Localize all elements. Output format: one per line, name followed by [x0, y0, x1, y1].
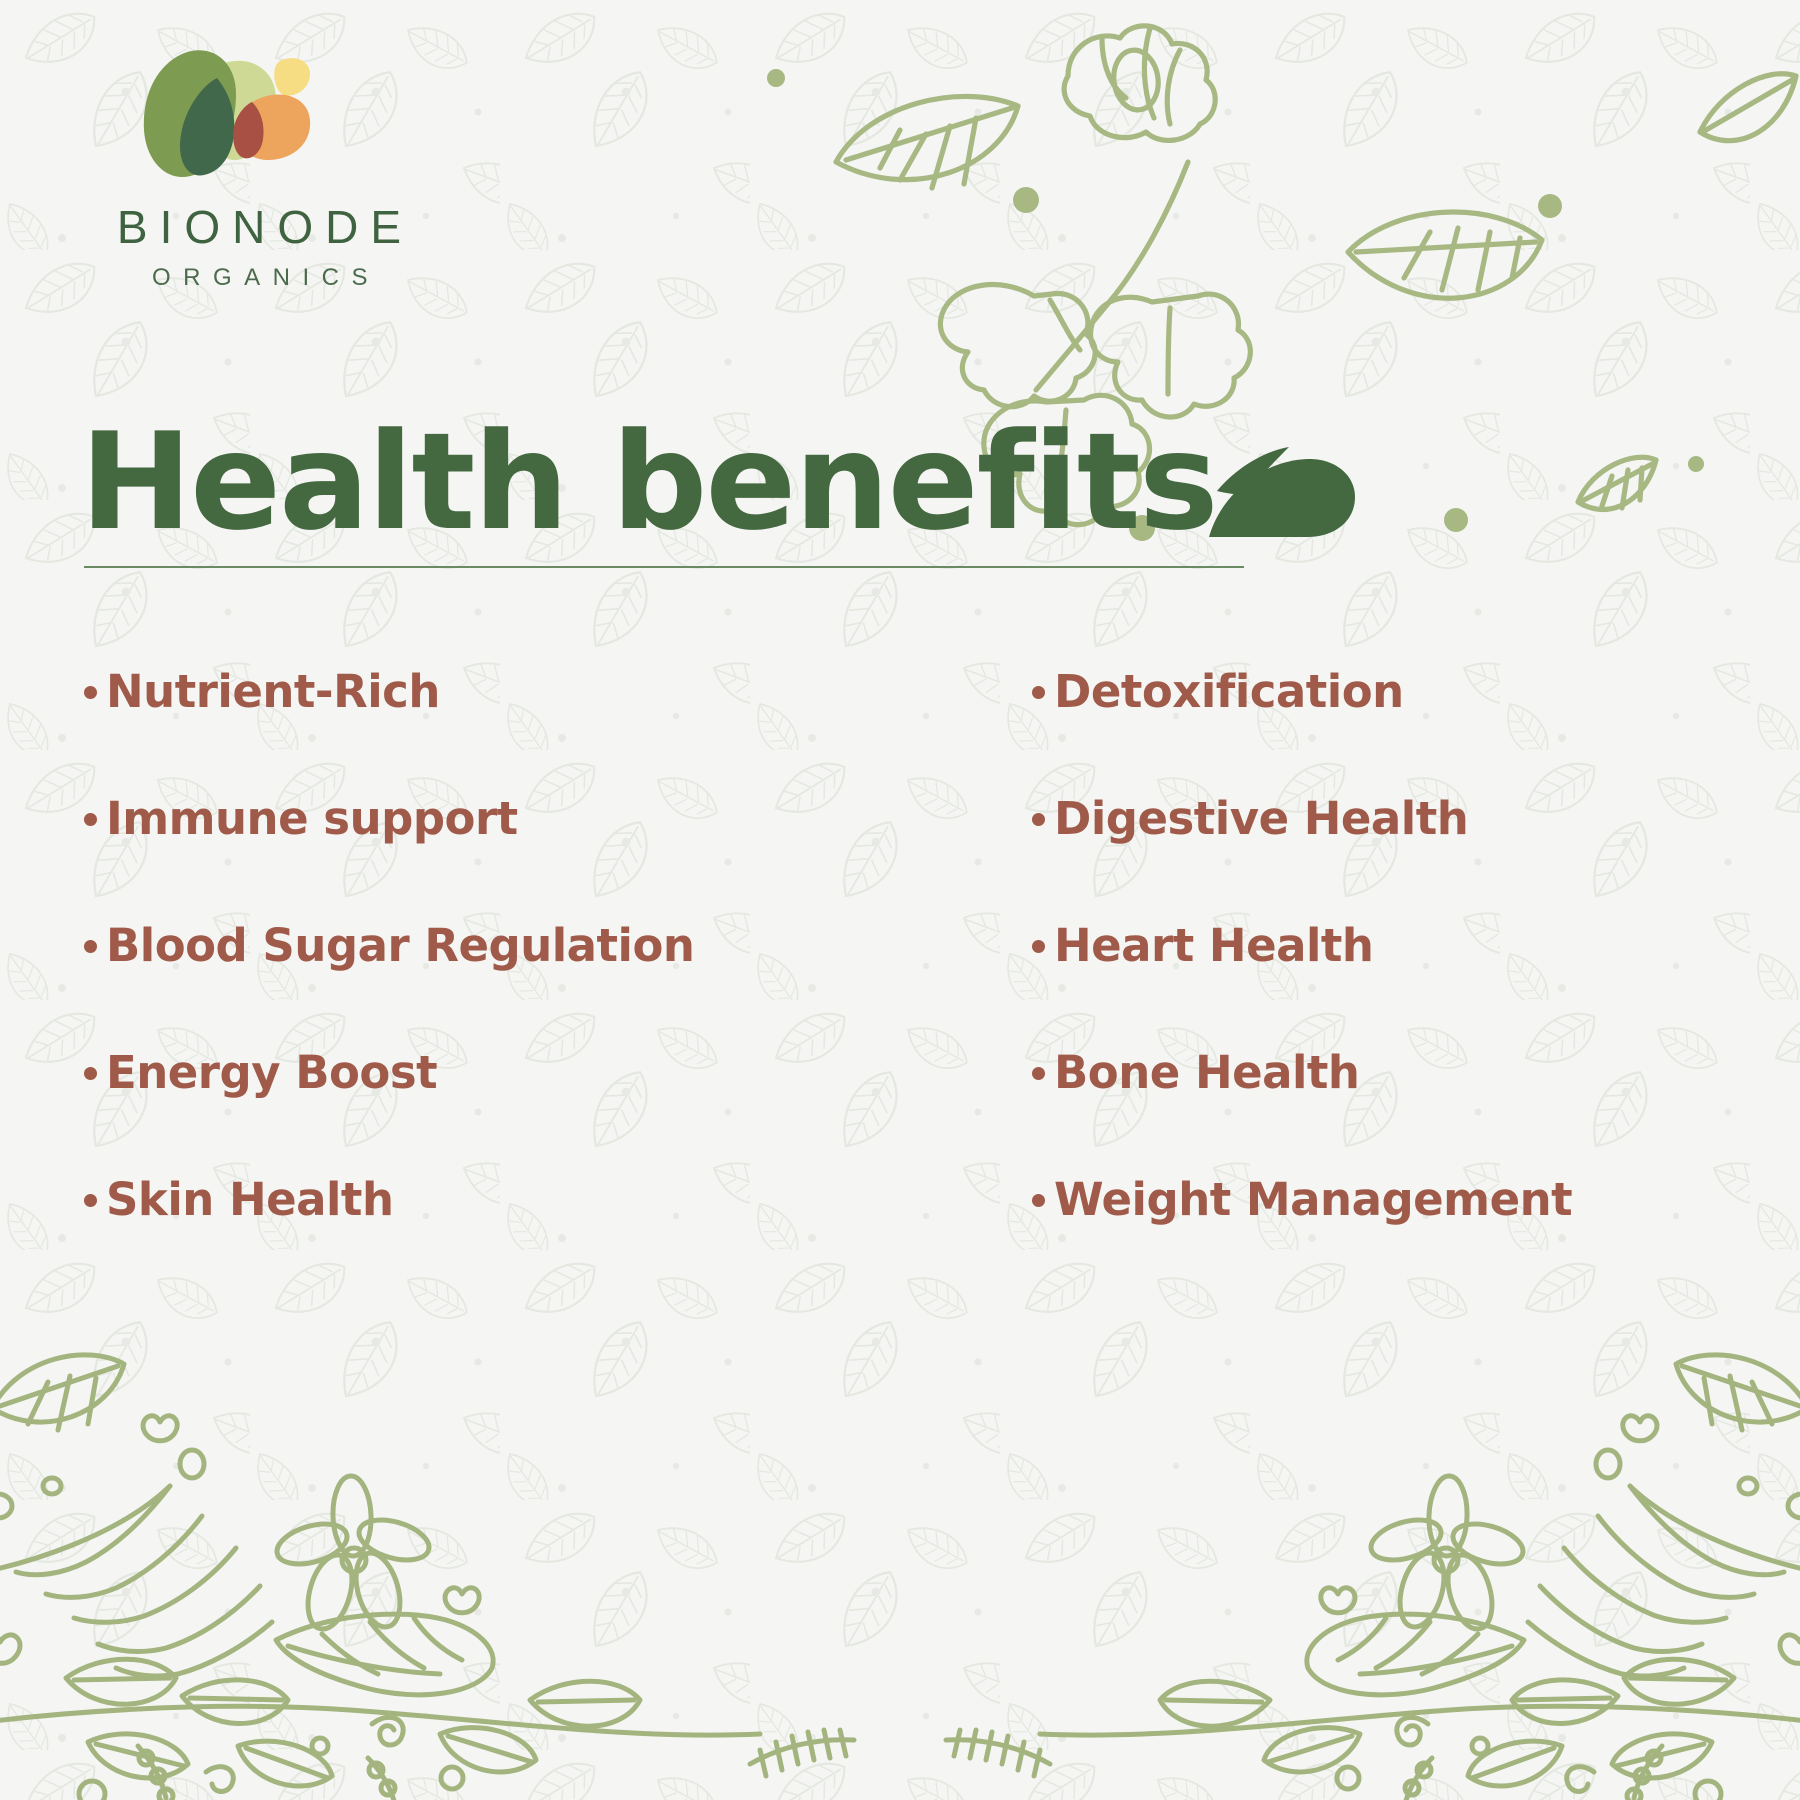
page-title-row: Health benefits	[80, 415, 1363, 549]
bullet-icon	[1032, 1194, 1045, 1207]
benefits-right-column: Detoxification Digestive Health Heart He…	[900, 628, 1800, 1263]
bullet-icon	[1032, 1067, 1045, 1080]
brand-tagline: ORGANICS	[94, 266, 438, 290]
bullet-icon	[1032, 813, 1045, 826]
bullet-icon	[84, 1067, 97, 1080]
bullet-icon	[84, 940, 97, 953]
list-item[interactable]: Immune support	[84, 755, 900, 882]
benefit-label: Blood Sugar Regulation	[106, 923, 694, 968]
bullet-icon	[84, 686, 97, 699]
bullet-icon	[1032, 686, 1045, 699]
list-item[interactable]: Blood Sugar Regulation	[84, 882, 900, 1009]
list-item[interactable]: Energy Boost	[84, 1009, 900, 1136]
benefit-label: Heart Health	[1054, 923, 1373, 968]
list-item[interactable]: Bone Health	[1032, 1009, 1800, 1136]
bullet-icon	[1032, 940, 1045, 953]
list-item[interactable]: Heart Health	[1032, 882, 1800, 1009]
benefits-left-column: Nutrient-Rich Immune support Blood Sugar…	[0, 628, 900, 1263]
benefit-label: Bone Health	[1054, 1050, 1359, 1095]
list-item[interactable]: Digestive Health	[1032, 755, 1800, 882]
list-item[interactable]: Detoxification	[1032, 628, 1800, 755]
list-item[interactable]: Nutrient-Rich	[84, 628, 900, 755]
benefit-label: Nutrient-Rich	[106, 669, 440, 714]
benefit-label: Digestive Health	[1054, 796, 1468, 841]
brand-logo[interactable]: BIONODE ORGANICS	[78, 34, 438, 290]
leaf-icon	[1203, 433, 1363, 543]
title-divider	[84, 566, 1244, 568]
benefit-label: Immune support	[106, 796, 518, 841]
benefits-section: Nutrient-Rich Immune support Blood Sugar…	[0, 628, 1800, 1263]
bullet-icon	[84, 813, 97, 826]
poster-canvas: BIONODE ORGANICS Health benefits Nutrien…	[0, 0, 1800, 1800]
page-title: Health benefits	[80, 415, 1217, 549]
benefit-label: Skin Health	[106, 1177, 393, 1222]
leaf-blob-logo-icon	[124, 34, 332, 194]
benefit-label: Energy Boost	[106, 1050, 437, 1095]
brand-wordmark: BIONODE	[92, 204, 438, 250]
benefit-label: Detoxification	[1054, 669, 1404, 714]
list-item[interactable]: Skin Health	[84, 1136, 900, 1263]
list-item[interactable]: Weight Management	[1032, 1136, 1800, 1263]
bullet-icon	[84, 1194, 97, 1207]
benefit-label: Weight Management	[1054, 1177, 1572, 1222]
